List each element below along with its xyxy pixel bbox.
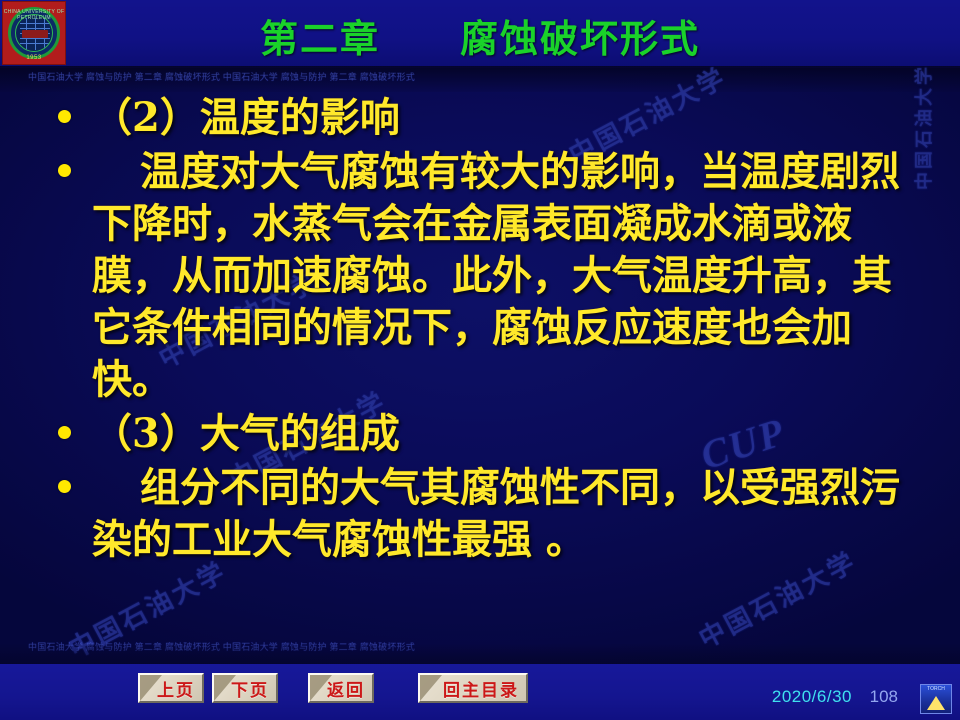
bullet-text: （3）大气的组成 bbox=[44, 408, 920, 460]
bullet-text: （2）温度的影响 bbox=[44, 92, 920, 144]
presentation-slide: 中国石油大学 中国石油大学 中国石油大学 中国石油大学 中国石油大学 CUP 中… bbox=[0, 0, 960, 720]
prev-page-button[interactable]: 上页 bbox=[138, 673, 204, 703]
footer-page-number: 108 bbox=[870, 687, 898, 707]
main-menu-button[interactable]: 回主目录 bbox=[418, 673, 528, 703]
paragraph-text: 组分不同的大气其腐蚀性不同，以受强烈污染的工业大气腐蚀性最强 。 bbox=[92, 462, 920, 566]
paragraph-text: 温度对大气腐蚀有较大的影响，当温度剧烈下降时，水蒸气会在金属表面凝成水滴或液膜，… bbox=[92, 146, 920, 406]
page-title: 第二章 腐蚀破坏形式 bbox=[0, 8, 960, 63]
main-menu-label: 回主目录 bbox=[443, 676, 519, 701]
back-label: 返回 bbox=[327, 676, 365, 701]
torch-icon[interactable]: TORCH bbox=[920, 684, 952, 714]
footer-band-shadow bbox=[0, 644, 960, 666]
paragraph-item: 温度对大气腐蚀有较大的影响，当温度剧烈下降时，水蒸气会在金属表面凝成水滴或液膜，… bbox=[44, 146, 920, 406]
torch-stem-shape bbox=[935, 698, 938, 710]
paragraph-item: 组分不同的大气其腐蚀性不同，以受强烈污染的工业大气腐蚀性最强 。 bbox=[44, 462, 920, 566]
next-page-button[interactable]: 下页 bbox=[212, 673, 278, 703]
bullet-item: （3）大气的组成 bbox=[44, 408, 920, 460]
bullet-dot-icon bbox=[58, 480, 71, 493]
corner-fold-icon bbox=[420, 675, 442, 701]
bullet-dot-icon bbox=[58, 164, 71, 177]
back-button[interactable]: 返回 bbox=[308, 673, 374, 703]
bullet-dot-icon bbox=[58, 110, 71, 123]
bullet-item: （2）温度的影响 bbox=[44, 92, 920, 144]
slide-body: （2）温度的影响 温度对大气腐蚀有较大的影响，当温度剧烈下降时，水蒸气会在金属表… bbox=[44, 92, 920, 568]
bullet-dot-icon bbox=[58, 426, 71, 439]
footer-date: 2020/6/30 bbox=[772, 687, 852, 707]
prev-page-label: 上页 bbox=[157, 676, 195, 701]
torch-icon-label: TORCH bbox=[921, 686, 951, 692]
next-page-label: 下页 bbox=[231, 676, 269, 701]
microtext-strip-top: 中国石油大学 腐蚀与防护 第二章 腐蚀破坏形式 中国石油大学 腐蚀与防护 第二章… bbox=[28, 70, 932, 84]
slide-navigation-bar: 上页 下页 返回 回主目录 2020/6/30 108 TORCH bbox=[0, 664, 960, 720]
